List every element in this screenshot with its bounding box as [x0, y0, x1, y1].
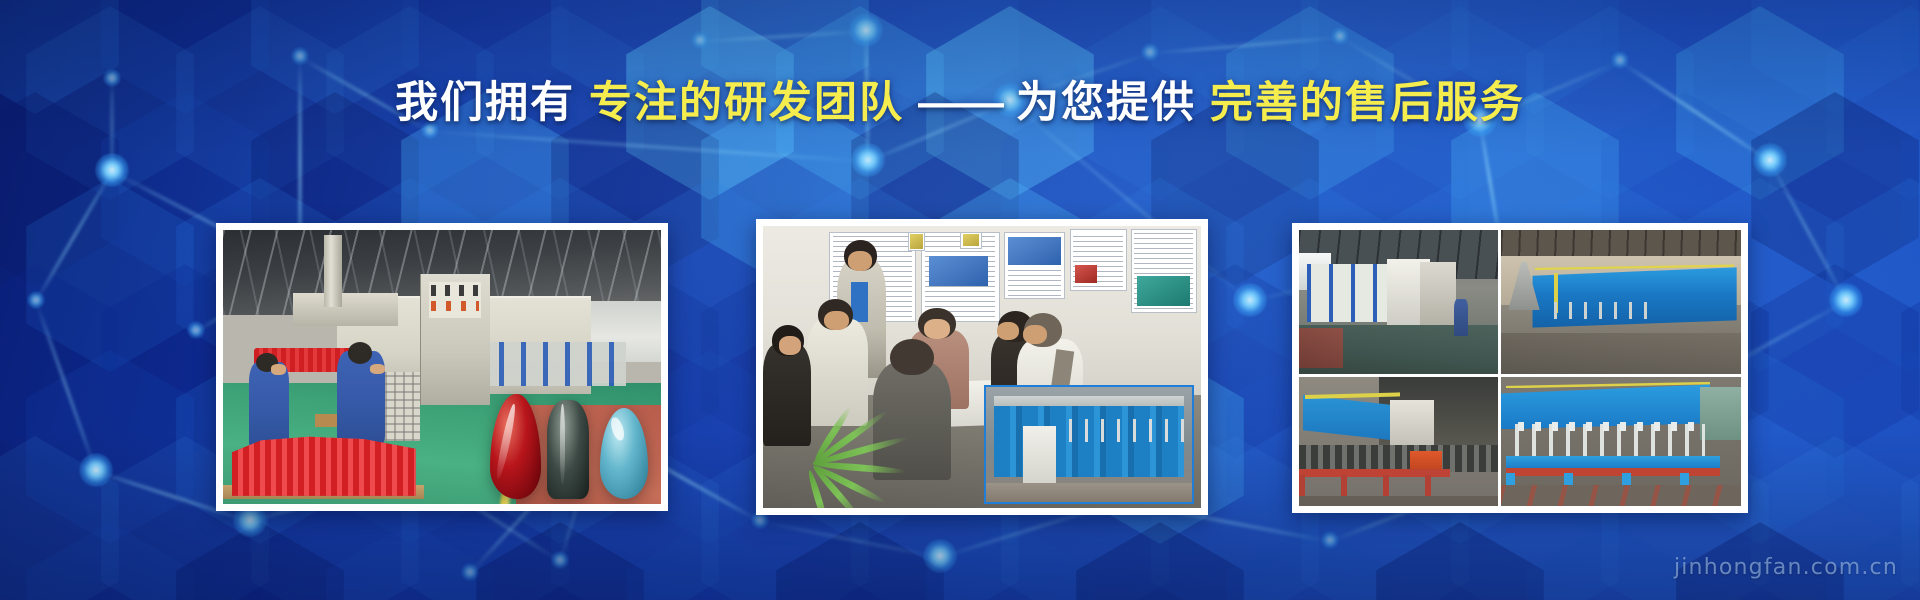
headline-segment-5: 完善的售后服务 — [1210, 79, 1525, 127]
photo-2-image — [763, 226, 1201, 508]
headline-segment-1: 我们拥有 — [395, 79, 575, 127]
promo-banner: 我们拥有 专注的研发团队 —— 为您提供 完善的售后服务 — [0, 0, 1920, 600]
site-watermark: jinhongfan.com.cn — [1674, 555, 1898, 580]
network-node — [291, 47, 309, 65]
network-node — [691, 31, 709, 49]
photo-card-equipment[interactable] — [1292, 223, 1748, 513]
palm-plant — [772, 406, 895, 508]
network-node — [923, 539, 957, 573]
photo-3-quadrant-4 — [1501, 377, 1741, 506]
network-node — [849, 13, 883, 47]
photo-card-factory[interactable] — [216, 223, 668, 511]
photo-3-image — [1299, 230, 1741, 506]
photo-2-machine-inset — [984, 385, 1194, 503]
network-node — [461, 563, 479, 581]
photo-3-quadrant-1 — [1299, 230, 1498, 374]
photo-3-quadrant-2 — [1501, 230, 1741, 374]
network-node — [551, 551, 569, 569]
photo-3-quadrant-3 — [1299, 377, 1498, 506]
network-node — [1141, 43, 1159, 61]
network-node — [1321, 531, 1339, 549]
headline-segment-2: 专注的研发团队 — [589, 79, 904, 127]
network-node — [1753, 143, 1787, 177]
photo-card-meeting[interactable] — [756, 219, 1208, 515]
headline-segment-4: 为您提供 — [1016, 79, 1196, 127]
glass-vase-grey — [547, 400, 589, 499]
headline-em-dash: —— — [918, 79, 1016, 127]
network-node — [95, 153, 129, 187]
network-node — [1331, 27, 1349, 45]
page-title: 我们拥有 专注的研发团队 —— 为您提供 完善的售后服务 — [0, 82, 1920, 125]
photo-1-image — [223, 230, 661, 504]
network-node — [851, 143, 885, 177]
network-node — [1611, 51, 1629, 69]
photo-gallery — [0, 223, 1920, 513]
